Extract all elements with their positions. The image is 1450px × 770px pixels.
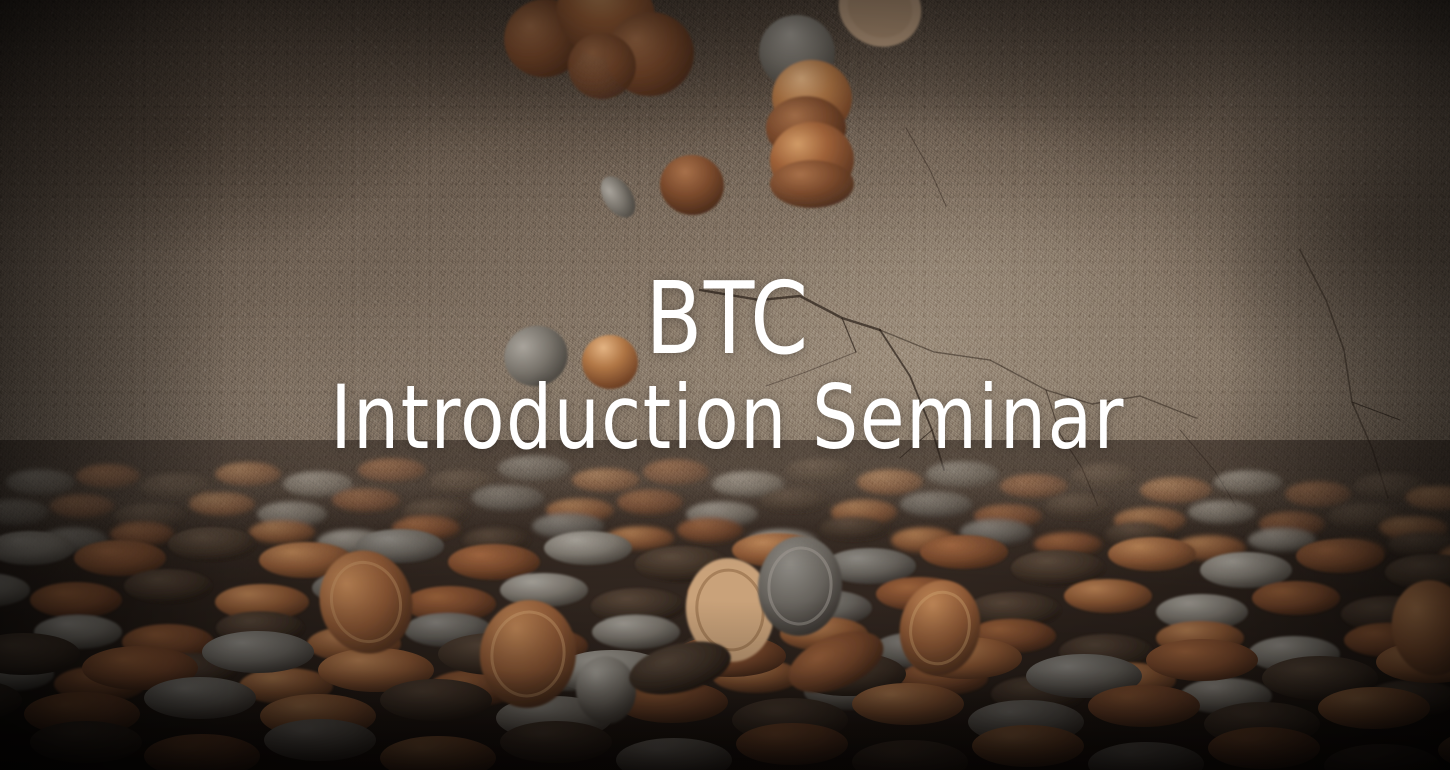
slide-canvas: BTC Introduction Seminar [0,0,1450,770]
coin-top-right [826,0,935,61]
coin-cluster-lower [496,317,643,395]
coin-cluster-upper-left [496,0,698,100]
coin-pile [0,440,1450,770]
coin-pile-coins [0,440,1450,770]
coin-stack-falling [751,7,856,208]
coin-single-mid [594,150,729,224]
